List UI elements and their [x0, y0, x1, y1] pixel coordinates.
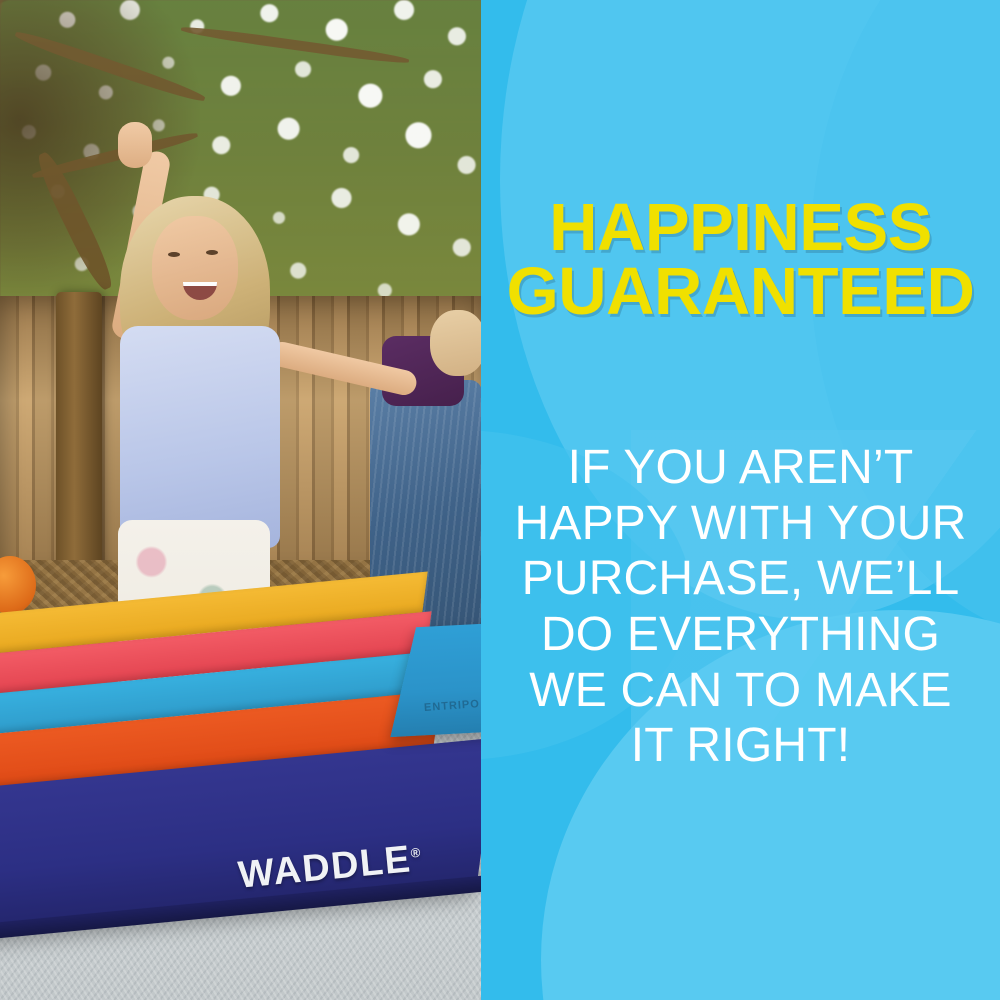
- gymnastics-mat: [0, 554, 481, 962]
- headline-line-2: GUARANTEED: [481, 260, 1000, 324]
- guarantee-panel: HAPPINESS GUARANTEED IF YOU AREN’T HAPPY…: [481, 0, 1000, 1000]
- girl-hand: [118, 122, 152, 168]
- body-line-1: IF YOU AREN’T: [503, 440, 978, 496]
- fence-post: [56, 292, 102, 592]
- headline: HAPPINESS GUARANTEED: [481, 196, 1000, 325]
- girl-lavender-shirt: [120, 326, 280, 548]
- product-lifestyle-photo: WADDLE® ENTRIPO: [0, 0, 481, 1000]
- guarantee-body-text: IF YOU AREN’T HAPPY WITH YOUR PURCHASE, …: [503, 440, 978, 774]
- body-line-2: HAPPY WITH YOUR: [503, 496, 978, 552]
- girl-eye-right: [206, 250, 218, 255]
- body-line-5: WE CAN TO MAKE: [503, 663, 978, 719]
- girl-eye-left: [168, 252, 180, 257]
- promotional-poster: WADDLE® ENTRIPO HAPPINESS GUARANTEED IF …: [0, 0, 1000, 1000]
- body-line-4: DO EVERYTHING: [503, 607, 978, 663]
- girl-face: [152, 216, 238, 320]
- registered-trademark-icon: ®: [410, 845, 422, 861]
- body-line-6: IT RIGHT!: [503, 718, 978, 774]
- boy-head: [430, 310, 481, 376]
- body-line-3: PURCHASE, WE’LL: [503, 551, 978, 607]
